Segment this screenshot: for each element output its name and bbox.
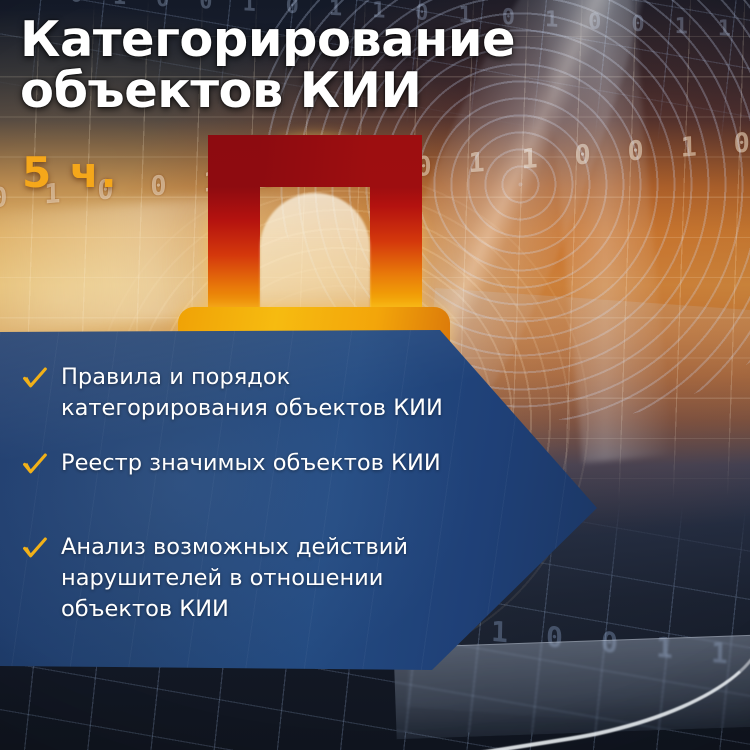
list-item-label: Правила и порядок категорирования объект… xyxy=(61,362,443,424)
list-item: Анализ возможных действий нарушителей в … xyxy=(0,532,600,625)
list-item-label: Анализ возможных действий нарушителей в … xyxy=(61,532,408,625)
check-icon xyxy=(22,452,48,482)
course-promo-card: 0 1 1 0 1 0 0 1 0 1 1 0 1 0 1 0 0 1 1 0 … xyxy=(0,0,750,750)
page-title: Категорирование объектов КИИ xyxy=(20,14,640,116)
check-icon xyxy=(22,366,48,396)
feature-list: Правила и порядок категорирования объект… xyxy=(0,330,600,670)
list-item: Правила и порядок категорирования объект… xyxy=(0,362,600,424)
course-duration-badge: 5 ч. xyxy=(22,150,119,196)
list-item-label: Реестр значимых объектов КИИ xyxy=(61,448,441,479)
check-icon xyxy=(22,536,48,566)
list-item: Реестр значимых объектов КИИ xyxy=(0,448,600,482)
title-line-1: Категорирование xyxy=(20,14,646,65)
title-line-2: объектов КИИ xyxy=(20,65,646,116)
